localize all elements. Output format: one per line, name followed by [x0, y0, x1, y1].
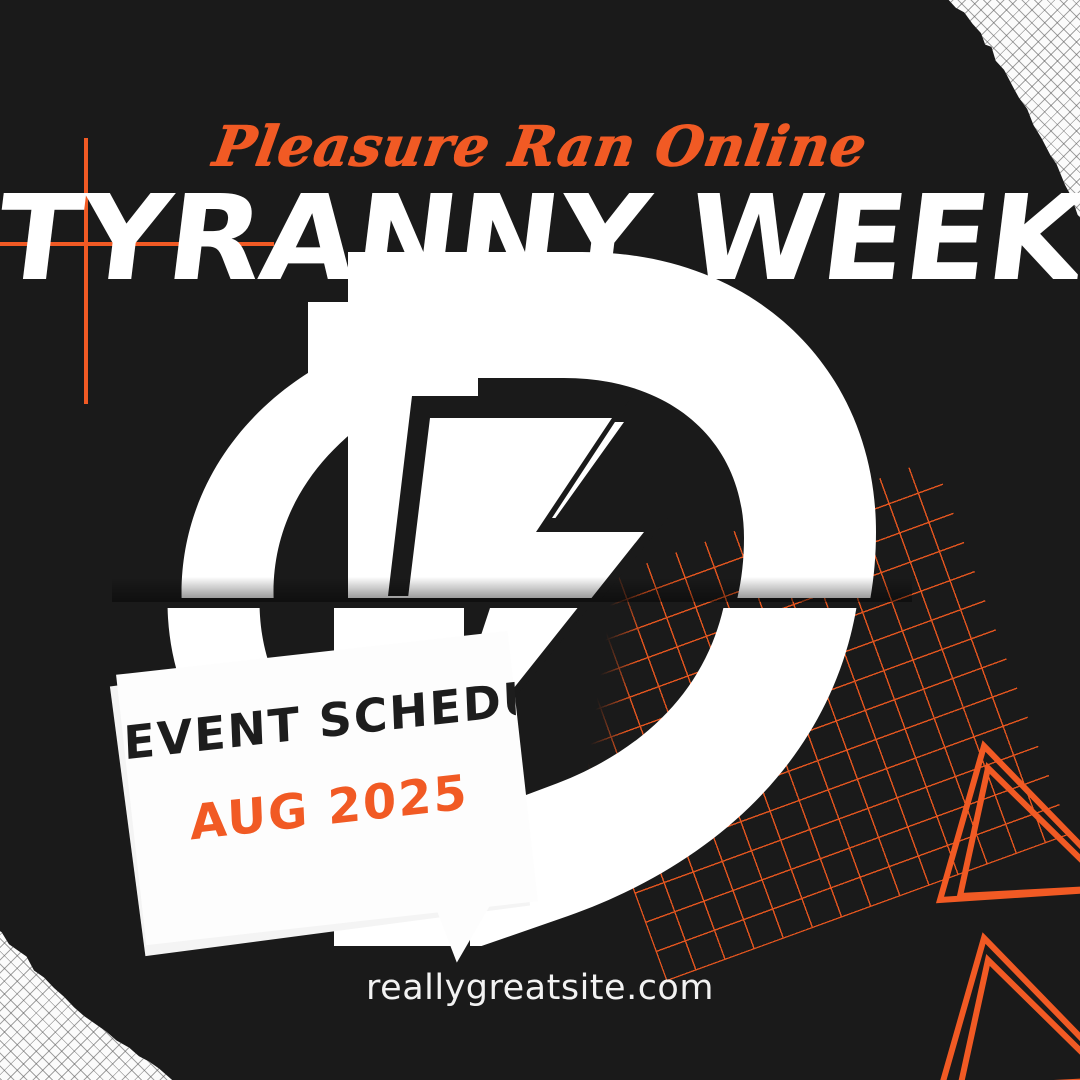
website-url: reallygreatsite.com [0, 968, 1080, 1008]
speech-bubble: EVENT SCHEDULE AUG 2025 [116, 631, 538, 945]
triangle-outline-icon [926, 738, 1080, 908]
poster-canvas: Pleasure Ran Online TYRANNY WEEK EVENT S… [0, 0, 1080, 1080]
page-title: TYRANNY WEEK [0, 179, 1080, 297]
headline-block: Pleasure Ran Online TYRANNY WEEK [0, 118, 1080, 299]
script-subtitle: Pleasure Ran Online [209, 118, 870, 173]
